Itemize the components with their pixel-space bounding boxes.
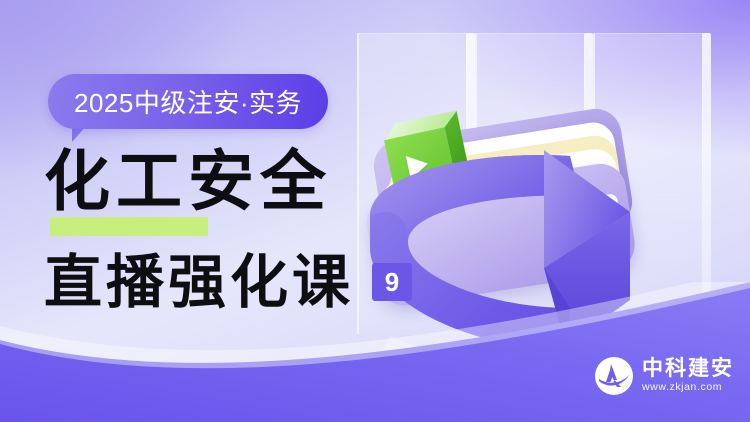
- brand-name: 中科建安: [642, 357, 734, 381]
- course-category-pill: 2025中级注安·实务: [48, 74, 328, 129]
- course-category-label: 2025中级注安·实务: [74, 83, 302, 120]
- logo-text-block: 中科建安 www.zkjan.com: [642, 357, 734, 395]
- zkjan-logo-icon: [594, 356, 634, 396]
- brand-logo: 中科建安 www.zkjan.com: [594, 356, 734, 396]
- episode-number-badge: 9: [372, 263, 412, 301]
- course-title-line1: 化工安全: [44, 148, 332, 214]
- brand-url: www.zkjan.com: [642, 381, 734, 395]
- course-title-line2-row: 直播强化课 9: [44, 253, 412, 311]
- course-banner: 2025中级注安·实务 化工安全 直播强化课 9 中科建安 www.zkjan.…: [0, 0, 750, 422]
- course-title-line2: 直播强化课: [44, 253, 354, 311]
